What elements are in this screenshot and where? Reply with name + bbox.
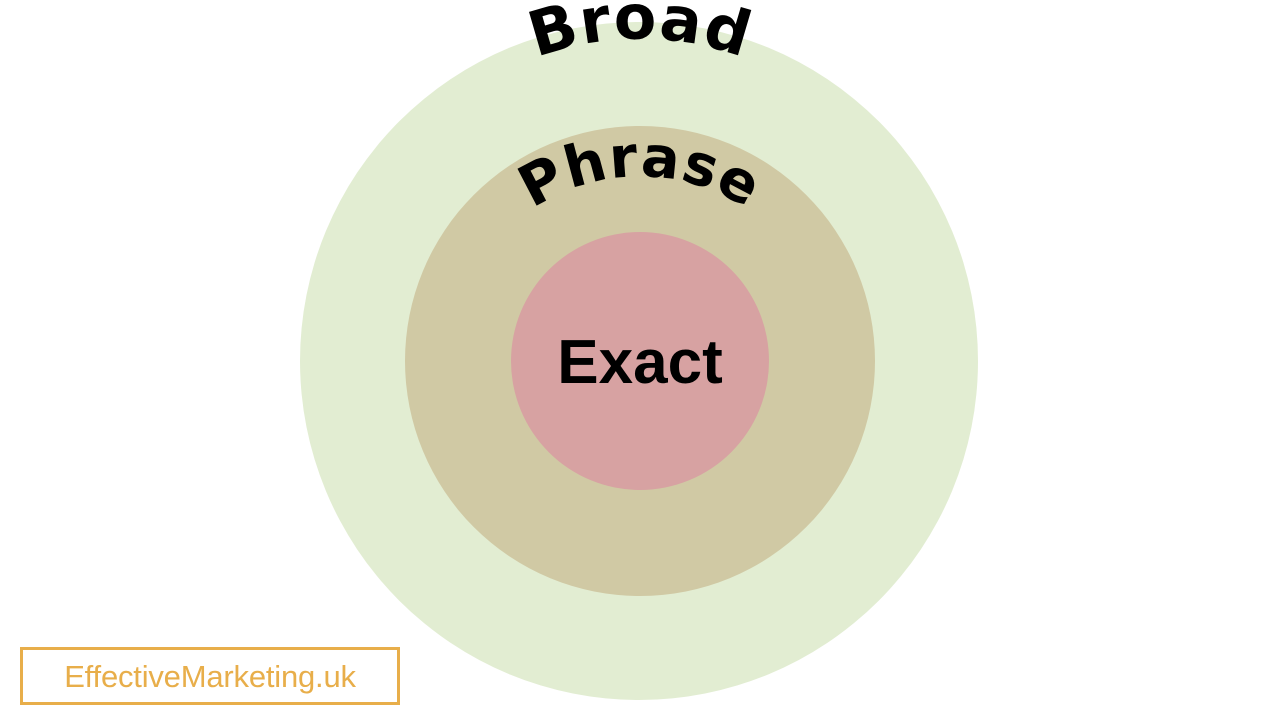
venn-diagram-svg: Broad Phrase Exact <box>0 0 1280 720</box>
concentric-circles-diagram: Broad Phrase Exact EffectiveMarketing.uk <box>0 0 1280 720</box>
watermark-logo-badge: EffectiveMarketing.uk <box>20 647 400 705</box>
watermark-logo-text: EffectiveMarketing.uk <box>64 661 356 692</box>
ring-label-exact: Exact <box>557 328 722 397</box>
